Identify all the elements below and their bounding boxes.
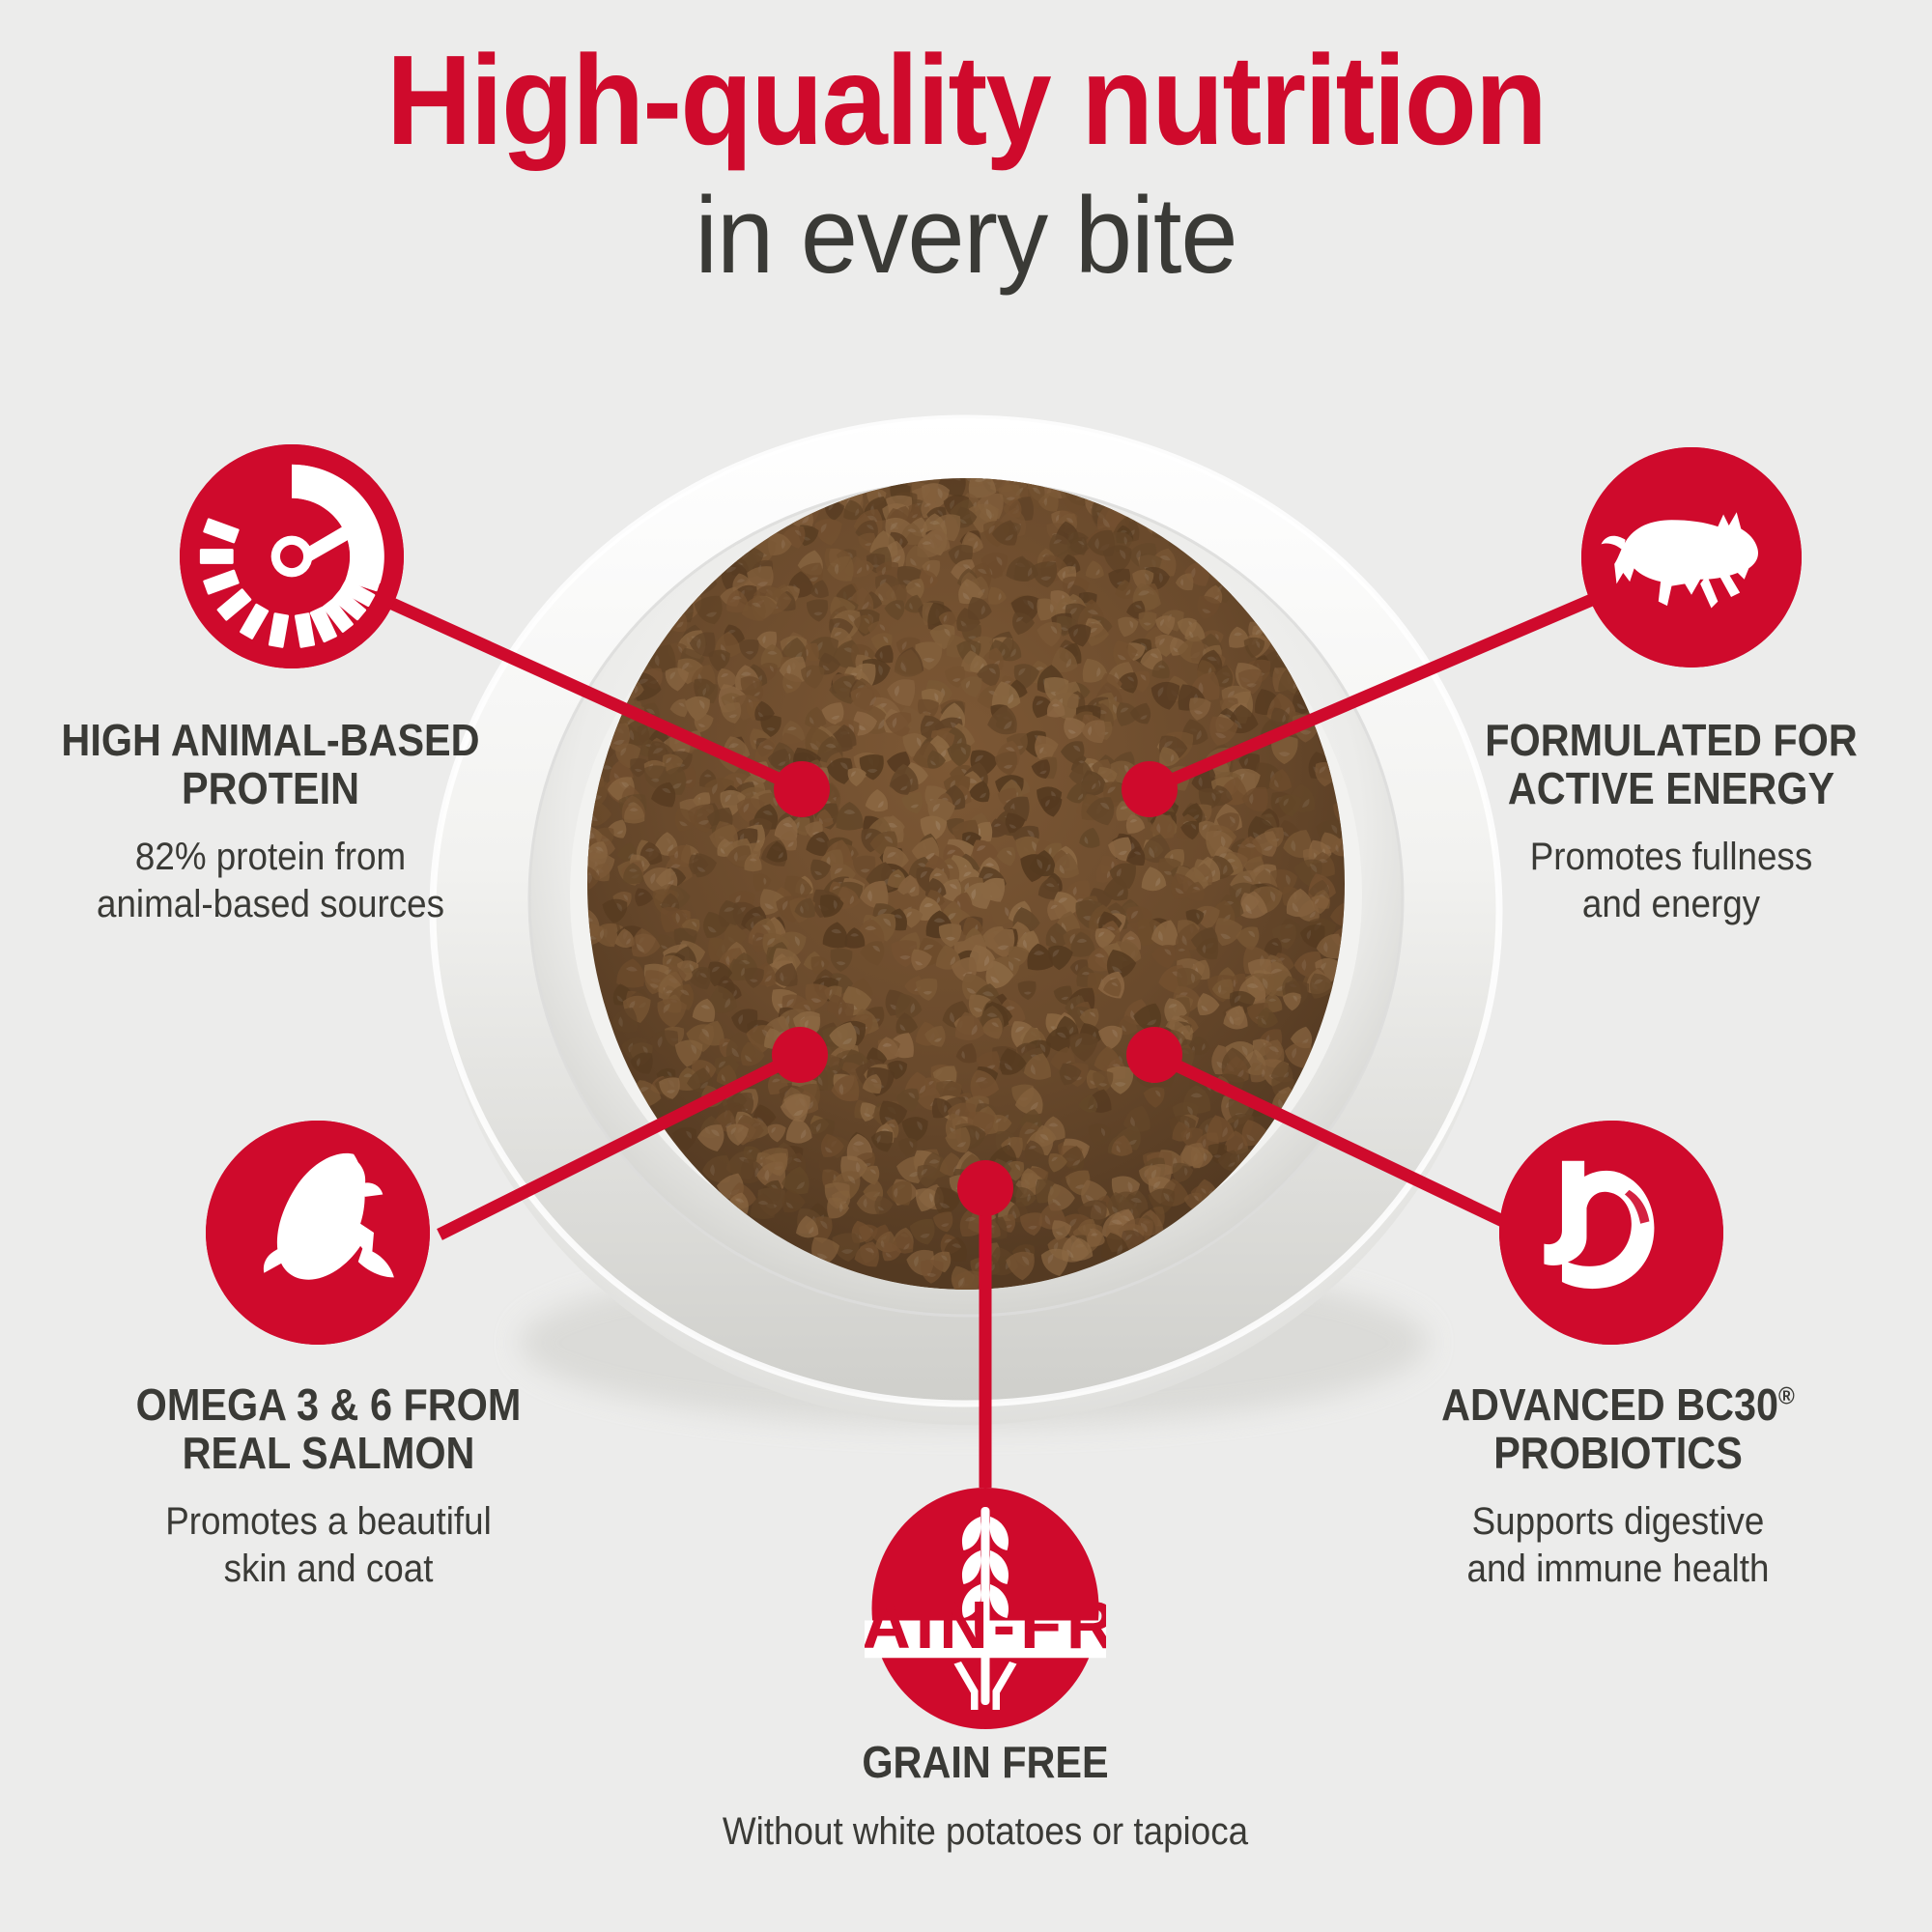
feature-title: ADVANCED BC30®PROBIOTICS (1371, 1381, 1866, 1477)
feature-desc: 82% protein from animal-based sources (31, 834, 511, 928)
feature-title-main: ADVANCED BC30 (1441, 1379, 1778, 1430)
dog-food-bowl-image (415, 343, 1517, 1492)
feature-title: OMEGA 3 & 6 FROM REAL SALMON (85, 1381, 572, 1477)
feature-title: GRAIN FREE (638, 1739, 1333, 1787)
headline-line-1: High-quality nutrition (68, 37, 1864, 164)
feature-formulated-for-active-energy: FORMULATED FOR ACTIVE ENERGY Promotes fu… (1410, 717, 1932, 928)
feature-desc: Promotes fullness and energy (1432, 834, 1912, 928)
grain-free-seal-text: GRAIN-FREE (865, 1587, 1106, 1662)
feature-title: HIGH ANIMAL-BASED PROTEIN (36, 717, 505, 812)
stomach-icon-badge[interactable] (1499, 1121, 1723, 1345)
grain-free-seal-icon-badge[interactable]: GRAIN-FREE (865, 1488, 1106, 1729)
registered-trademark-symbol: ® (1778, 1383, 1795, 1410)
jumping-dog-icon-badge[interactable] (1581, 447, 1802, 668)
headline-line-2: in every bite (48, 182, 1884, 290)
grain-free-seal-icon: GRAIN-FREE (865, 1488, 1106, 1729)
page-title: High-quality nutrition in every bite (0, 37, 1932, 290)
feature-grain-free: GRAIN FREE Without white potatoes or tap… (599, 1739, 1372, 1855)
salmon-icon-badge[interactable] (206, 1121, 430, 1345)
feature-title: FORMULATED FOR ACTIVE ENERGY (1436, 717, 1906, 812)
feature-advanced-bc30-probiotics: ADVANCED BC30®PROBIOTICS Supports digest… (1343, 1381, 1893, 1593)
feature-desc: Without white potatoes or tapioca (630, 1808, 1341, 1856)
jumping-dog-icon (1581, 447, 1802, 668)
feature-title-line2: PROBIOTICS (1493, 1428, 1743, 1478)
stomach-icon (1499, 1121, 1723, 1345)
gauge-icon-badge[interactable] (180, 444, 404, 668)
gauge-icon (180, 444, 404, 668)
feature-high-animal-based-protein: HIGH ANIMAL-BASED PROTEIN 82% protein fr… (10, 717, 531, 928)
feature-omega-3-and-6-from-real-salmon: OMEGA 3 & 6 FROM REAL SALMON Promotes a … (58, 1381, 599, 1593)
infographic-canvas: High-quality nutrition in every bite (0, 0, 1932, 1932)
salmon-icon (206, 1121, 430, 1345)
feature-desc: Promotes a beautiful skin and coat (79, 1498, 577, 1593)
feature-desc: Supports digestive and immune health (1365, 1498, 1871, 1593)
